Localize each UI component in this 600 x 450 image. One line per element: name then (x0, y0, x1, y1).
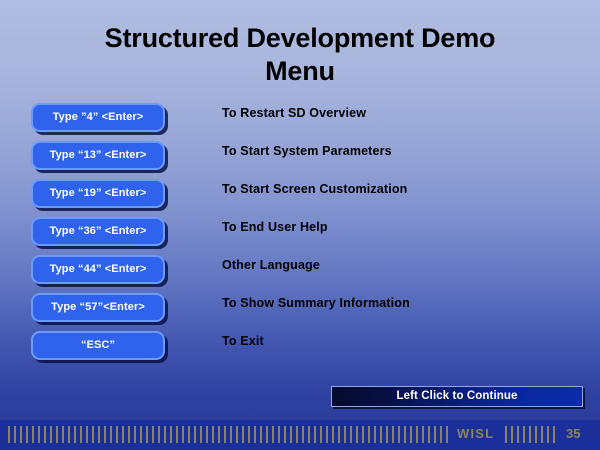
menu-button-wrapper: Type “36” <Enter> (31, 217, 165, 246)
menu-button-restart-sd-overview[interactable]: Type ”4” <Enter> (31, 103, 165, 132)
menu-row: Type “19” <Enter> To Start Screen Custom… (0, 179, 600, 217)
left-click-to-continue-button[interactable]: Left Click to Continue (331, 386, 583, 407)
menu-row: Type ”4” <Enter> To Restart SD Overview (0, 103, 600, 141)
menu-button-exit[interactable]: “ESC” (31, 331, 165, 360)
menu-row: Type “44” <Enter> Other Language (0, 255, 600, 293)
menu-description-restart-sd-overview: To Restart SD Overview (222, 106, 366, 120)
footer-stripes-right-icon (505, 426, 558, 443)
menu-button-summary-information[interactable]: Type “57”<Enter> (31, 293, 165, 322)
page-title-line-2: Menu (0, 55, 600, 88)
menu-button-wrapper: Type “57”<Enter> (31, 293, 165, 322)
menu-row: Type “36” <Enter> To End User Help (0, 217, 600, 255)
menu-row: “ESC” To Exit (0, 331, 600, 369)
menu-row: Type “57”<Enter> To Show Summary Informa… (0, 293, 600, 331)
menu-button-wrapper: Type “19” <Enter> (31, 179, 165, 208)
menu-button-other-language[interactable]: Type “44” <Enter> (31, 255, 165, 284)
menu-button-screen-customization[interactable]: Type “19” <Enter> (31, 179, 165, 208)
menu-list: Type ”4” <Enter> To Restart SD Overview … (0, 103, 600, 369)
footer-bar: WISL 35 (0, 420, 600, 450)
page-title-line-1: Structured Development Demo (0, 22, 600, 55)
menu-button-wrapper: “ESC” (31, 331, 165, 360)
menu-description-exit: To Exit (222, 334, 264, 348)
menu-button-end-user-help[interactable]: Type “36” <Enter> (31, 217, 165, 246)
menu-row: Type “13” <Enter> To Start System Parame… (0, 141, 600, 179)
menu-description-screen-customization: To Start Screen Customization (222, 182, 407, 196)
page-title: Structured Development Demo Menu (0, 22, 600, 88)
slide-canvas: Structured Development Demo Menu Type ”4… (0, 0, 600, 450)
menu-button-wrapper: Type “44” <Enter> (31, 255, 165, 284)
menu-button-wrapper: Type ”4” <Enter> (31, 103, 165, 132)
footer-brand-label: WISL (457, 426, 494, 441)
menu-button-system-parameters[interactable]: Type “13” <Enter> (31, 141, 165, 170)
menu-description-end-user-help: To End User Help (222, 220, 328, 234)
menu-description-system-parameters: To Start System Parameters (222, 144, 392, 158)
footer-stripes-left-icon (8, 426, 448, 443)
menu-description-summary-information: To Show Summary Information (222, 296, 410, 310)
menu-description-other-language: Other Language (222, 258, 320, 272)
menu-button-wrapper: Type “13” <Enter> (31, 141, 165, 170)
footer-page-number: 35 (566, 426, 580, 441)
